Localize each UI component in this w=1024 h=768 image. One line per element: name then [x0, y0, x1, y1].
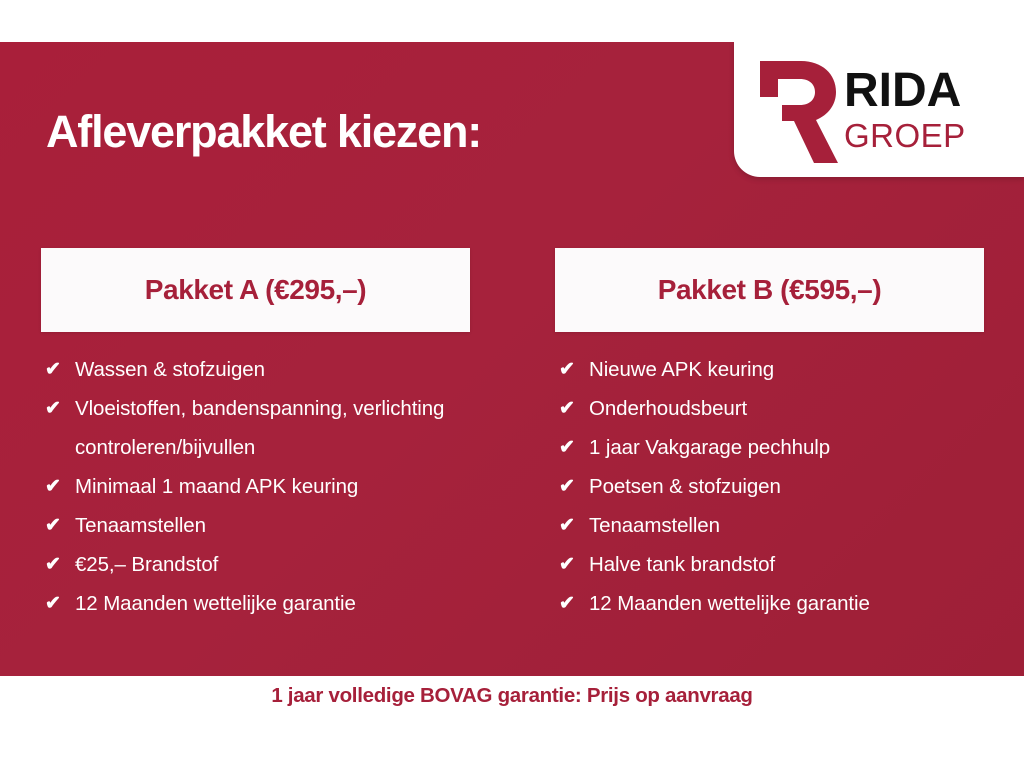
feature-label: Halve tank brandstof: [589, 545, 984, 584]
package-b-title: Pakket B (€595,–): [658, 274, 882, 306]
list-item: ✔ Onderhoudsbeurt: [559, 389, 984, 428]
check-icon: ✔: [45, 350, 75, 389]
list-item: ✔ Nieuwe APK keuring: [559, 350, 984, 389]
footer-bar: 1 jaar volledige BOVAG garantie: Prijs o…: [0, 676, 1024, 768]
rida-r-mark-icon: [752, 59, 838, 163]
logo-name: RIDA: [844, 67, 966, 115]
list-item: ✔ Tenaamstellen: [559, 506, 984, 545]
footer-note: 1 jaar volledige BOVAG garantie: Prijs o…: [271, 684, 752, 768]
list-item: ✔ 1 jaar Vakgarage pechhulp: [559, 428, 984, 467]
logo-subtitle: GROEP: [844, 119, 966, 152]
logo-plate: RIDA GROEP: [734, 42, 1024, 177]
check-icon: ✔: [45, 545, 75, 584]
check-icon: ✔: [559, 506, 589, 545]
check-icon: ✔: [559, 545, 589, 584]
feature-label: 12 Maanden wettelijke garantie: [589, 584, 984, 623]
package-b-header[interactable]: Pakket B (€595,–): [555, 248, 984, 332]
package-card-b: Pakket B (€595,–) ✔ Nieuwe APK keuring ✔…: [555, 248, 984, 623]
list-item: ✔ Poetsen & stofzuigen: [559, 467, 984, 506]
list-item: ✔ Wassen & stofzuigen: [45, 350, 470, 389]
check-icon: ✔: [45, 584, 75, 623]
check-icon: ✔: [45, 467, 75, 506]
feature-label: Nieuwe APK keuring: [589, 350, 984, 389]
slide-root: Afleverpakket kiezen: RIDA GROEP Pakket …: [0, 0, 1024, 768]
package-a-feature-list: ✔ Wassen & stofzuigen ✔ Vloeistoffen, ba…: [41, 332, 470, 623]
list-item: ✔ Minimaal 1 maand APK keuring: [45, 467, 470, 506]
feature-label: 12 Maanden wettelijke garantie: [75, 584, 470, 623]
check-icon: ✔: [45, 506, 75, 545]
list-item: ✔ Tenaamstellen: [45, 506, 470, 545]
feature-label: Vloeistoffen, bandenspanning, verlichtin…: [75, 389, 470, 467]
package-a-title: Pakket A (€295,–): [145, 274, 366, 306]
check-icon: ✔: [559, 350, 589, 389]
red-background-panel: Afleverpakket kiezen: RIDA GROEP Pakket …: [0, 42, 1024, 676]
package-columns: Pakket A (€295,–) ✔ Wassen & stofzuigen …: [0, 248, 1024, 623]
list-item: ✔ Halve tank brandstof: [559, 545, 984, 584]
feature-label: Wassen & stofzuigen: [75, 350, 470, 389]
check-icon: ✔: [559, 428, 589, 467]
feature-label: Tenaamstellen: [75, 506, 470, 545]
check-icon: ✔: [559, 584, 589, 623]
feature-label: Tenaamstellen: [589, 506, 984, 545]
page-title: Afleverpakket kiezen:: [46, 108, 481, 155]
logo-wordmark: RIDA GROEP: [844, 67, 966, 152]
list-item: ✔ Vloeistoffen, bandenspanning, verlicht…: [45, 389, 470, 467]
package-b-feature-list: ✔ Nieuwe APK keuring ✔ Onderhoudsbeurt ✔…: [555, 332, 984, 623]
package-card-a: Pakket A (€295,–) ✔ Wassen & stofzuigen …: [41, 248, 470, 623]
check-icon: ✔: [559, 467, 589, 506]
package-a-header[interactable]: Pakket A (€295,–): [41, 248, 470, 332]
feature-label: Poetsen & stofzuigen: [589, 467, 984, 506]
check-icon: ✔: [559, 389, 589, 428]
feature-label: €25,– Brandstof: [75, 545, 470, 584]
list-item: ✔ 12 Maanden wettelijke garantie: [559, 584, 984, 623]
feature-label: 1 jaar Vakgarage pechhulp: [589, 428, 984, 467]
list-item: ✔ €25,– Brandstof: [45, 545, 470, 584]
feature-label: Minimaal 1 maand APK keuring: [75, 467, 470, 506]
check-icon: ✔: [45, 389, 75, 428]
feature-label: Onderhoudsbeurt: [589, 389, 984, 428]
list-item: ✔ 12 Maanden wettelijke garantie: [45, 584, 470, 623]
